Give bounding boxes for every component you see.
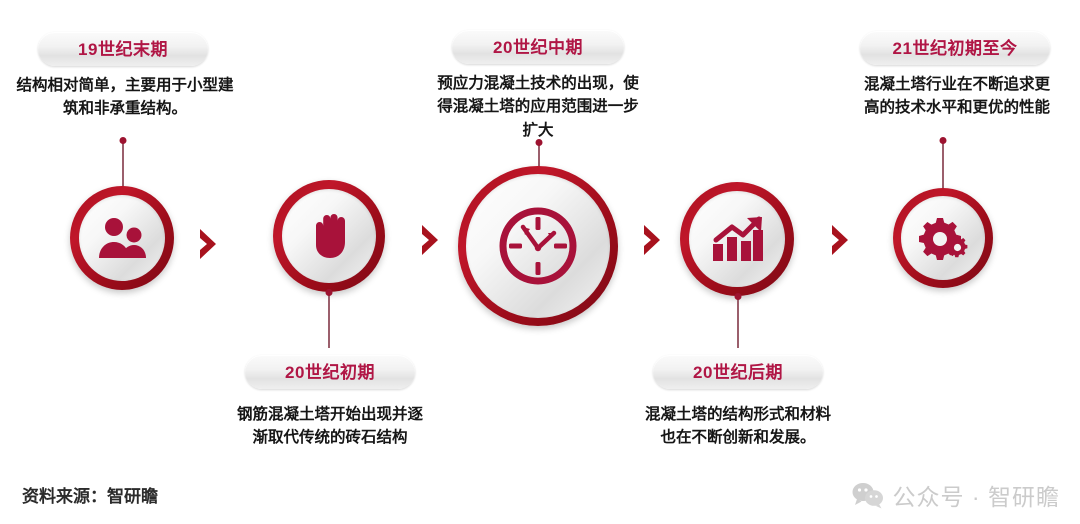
step-badge-label-5: 21世纪初期至今 xyxy=(893,40,1018,57)
step-description-4: 混凝土塔的结构形式和材料 也在不断创新和发展。 xyxy=(620,403,856,450)
step-badge-label-2: 20世纪初期 xyxy=(285,364,375,381)
source-note: 资料来源：智研瞻 xyxy=(22,482,158,507)
infographic-canvas: 19世纪末期 结构相对简单，主要用于小型建 筑和非承重结构。 xyxy=(0,0,1080,524)
step-node-inner-2 xyxy=(282,189,376,283)
separator-arrow-3 xyxy=(640,222,666,258)
separator-arrow-1 xyxy=(196,226,222,262)
separator-arrow-2 xyxy=(418,222,444,258)
step-node-inner-1 xyxy=(79,195,165,281)
step-node-inner-4 xyxy=(689,191,785,287)
step-badge-5: 21世纪初期至今 xyxy=(860,31,1050,65)
step-description-3: 预应力混凝土技术的出现，使 得混凝土塔的应用范围进一步 扩大 xyxy=(412,72,664,142)
step-badge-label-3: 20世纪中期 xyxy=(493,39,583,56)
growth-chart-icon xyxy=(709,214,765,264)
step-description-2: 钢筋混凝土塔开始出现并逐 渐取代传统的砖石结构 xyxy=(212,403,448,450)
step-node-3[interactable] xyxy=(458,166,618,326)
people-icon xyxy=(96,215,148,261)
hand-icon xyxy=(306,210,352,262)
step-connector-4 xyxy=(737,296,739,348)
gears-icon xyxy=(917,214,969,262)
watermark-label: 公众号 · 智研瞻 xyxy=(893,478,1060,512)
step-badge-4: 20世纪后期 xyxy=(653,355,823,389)
step-connector-2 xyxy=(328,292,330,348)
step-badge-2: 20世纪初期 xyxy=(245,355,415,389)
step-node-inner-3 xyxy=(466,174,610,318)
step-node-1[interactable] xyxy=(70,186,174,290)
step-node-inner-5 xyxy=(901,196,985,280)
step-description-5: 混凝土塔行业在不断追求更 高的技术水平和更优的性能 xyxy=(838,73,1076,120)
step-node-2[interactable] xyxy=(273,180,385,292)
step-badge-3: 20世纪中期 xyxy=(452,30,624,64)
step-node-4[interactable] xyxy=(680,182,794,296)
step-connector-5 xyxy=(942,140,944,190)
step-description-1: 结构相对简单，主要用于小型建 筑和非承重结构。 xyxy=(6,74,244,121)
wechat-icon xyxy=(852,482,884,509)
step-badge-label-1: 19世纪末期 xyxy=(78,41,168,58)
clock-icon xyxy=(494,202,582,290)
step-badge-1: 19世纪末期 xyxy=(38,32,208,66)
step-node-5[interactable] xyxy=(893,188,993,288)
step-badge-label-4: 20世纪后期 xyxy=(693,364,783,381)
separator-arrow-4 xyxy=(828,222,854,258)
step-connector-1 xyxy=(122,140,124,188)
watermark: 公众号 · 智研瞻 xyxy=(852,478,1060,512)
